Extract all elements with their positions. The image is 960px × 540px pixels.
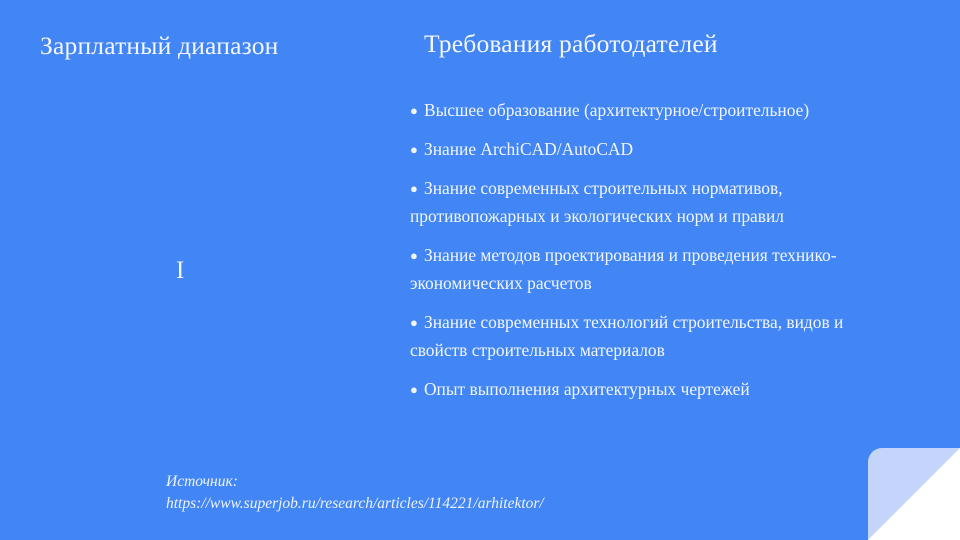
slide-canvas: Зарплатный диапазон I Источник: https://… (0, 0, 960, 540)
bullet-icon: ● (410, 246, 424, 267)
bullet-icon: ● (410, 380, 424, 401)
corner-fold-triangle (868, 448, 960, 540)
bullet-icon: ● (410, 140, 424, 161)
list-item: ●Знание ArchiCAD/AutoCAD (410, 135, 902, 163)
list-item-text: Знание современных технологий строительс… (410, 312, 843, 360)
bullet-icon: ● (410, 101, 424, 122)
list-item-text: Высшее образование (архитектурное/строит… (424, 100, 809, 120)
corner-decoration (868, 448, 960, 540)
list-item: ●Знание современных технологий строитель… (410, 308, 902, 364)
list-item: ●Знание методов проектирования и проведе… (410, 241, 902, 297)
salary-range-title: Зарплатный диапазон (40, 31, 370, 61)
bullet-icon: ● (410, 179, 424, 200)
bullet-icon: ● (410, 313, 424, 334)
employer-requirements-title: Требования работодателей (424, 29, 718, 59)
list-item-text: Опыт выполнения архитектурных чертежей (424, 379, 750, 399)
list-item-text: Знание ArchiCAD/AutoCAD (424, 139, 633, 159)
list-item-text: Знание методов проектирования и проведен… (410, 245, 837, 293)
salary-range-placeholder-glyph: I (176, 258, 184, 283)
left-column: Зарплатный диапазон I (0, 0, 400, 540)
list-item-text: Знание современных строительных норматив… (410, 178, 784, 226)
list-item: ●Знание современных строительных нормати… (410, 174, 902, 230)
employer-requirements-list: ●Высшее образование (архитектурное/строи… (410, 96, 902, 403)
list-item: ●Высшее образование (архитектурное/строи… (410, 96, 902, 124)
list-item: ●Опыт выполнения архитектурных чертежей (410, 375, 902, 403)
